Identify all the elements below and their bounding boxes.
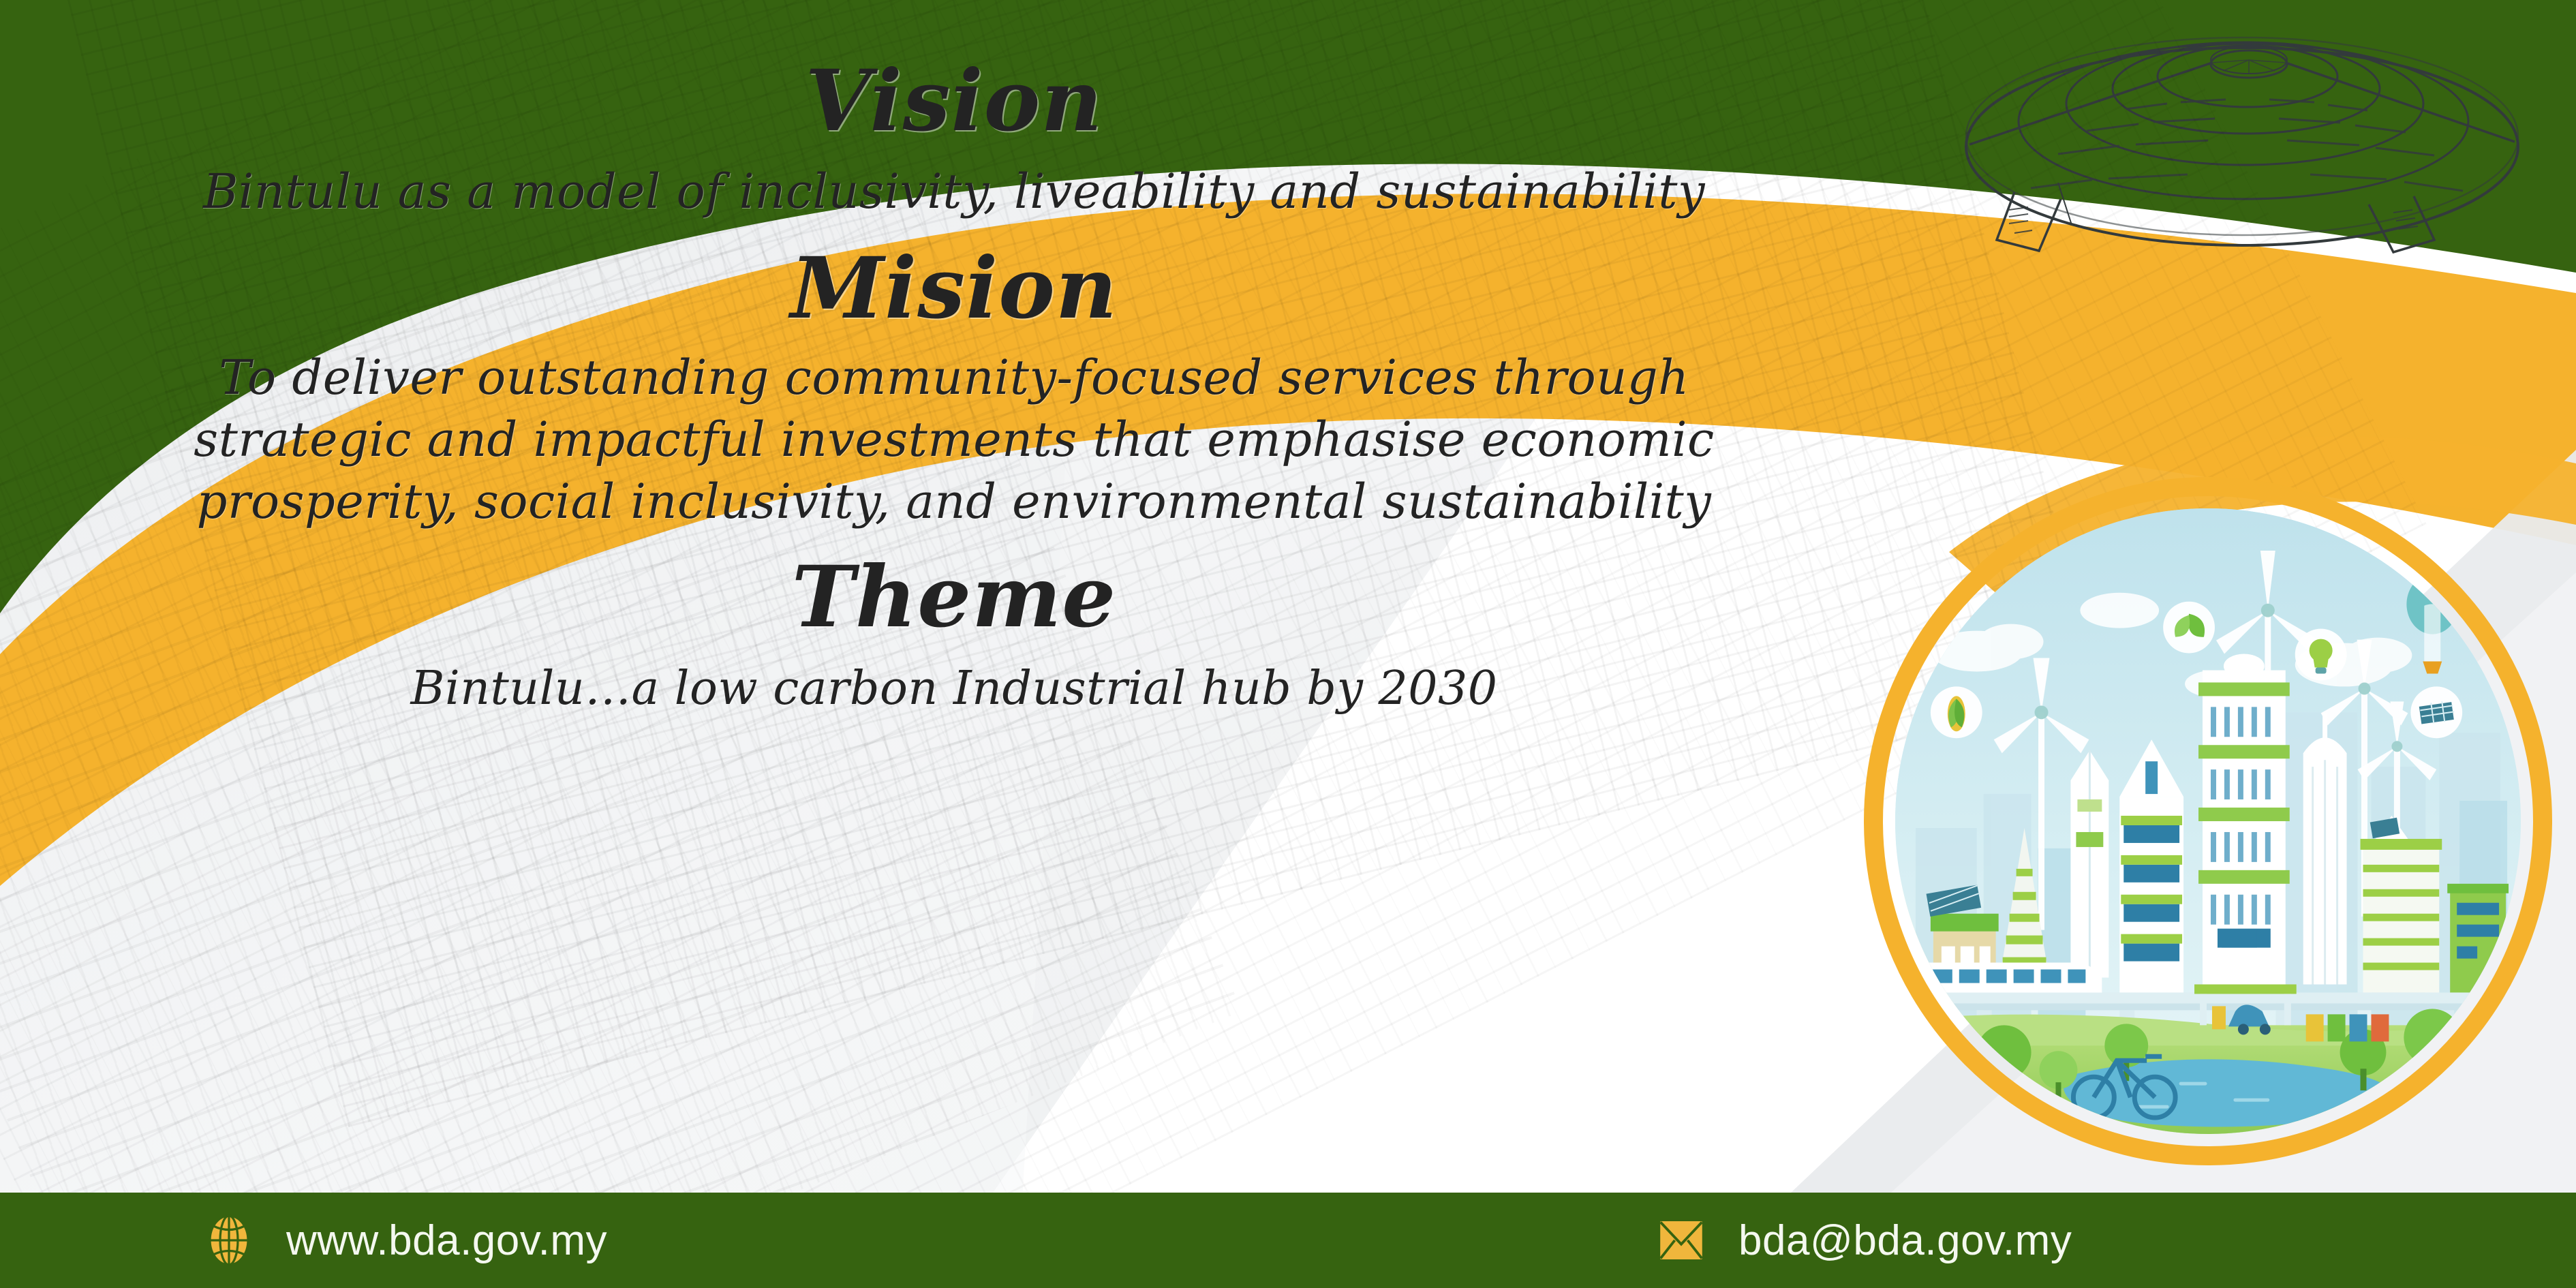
vision-heading: Vision xyxy=(0,57,1908,146)
footer-email[interactable]: bda@bda.gov.my xyxy=(1657,1214,2072,1267)
globe-icon-svg xyxy=(206,1214,251,1267)
theme-line-1: Bintulu…a low carbon Industrial hub by 2… xyxy=(0,659,1908,719)
eco-city-emblem xyxy=(1864,477,2552,1165)
mision-line-1: To deliver outstanding community-focused… xyxy=(0,347,1908,409)
envelope-icon-svg xyxy=(1657,1216,1706,1265)
content-block: Vision Bintulu as a model of inclusivity… xyxy=(0,57,1908,719)
envelope-icon xyxy=(1657,1214,1706,1267)
mision-line-3: prosperity, social inclusivity, and envi… xyxy=(0,471,1908,533)
vision-line-1: Bintulu as a model of inclusivity, livea… xyxy=(0,161,1908,223)
footer-bar: www.bda.gov.my bda@bda.gov.my xyxy=(0,1193,2576,1288)
mision-heading: Mision xyxy=(0,245,1908,333)
email-label[interactable]: bda@bda.gov.my xyxy=(1738,1216,2072,1265)
globe-icon xyxy=(204,1214,254,1267)
footer-website[interactable]: www.bda.gov.my xyxy=(204,1214,607,1267)
emblem-ring xyxy=(1864,477,2552,1165)
banner-root: Vision Bintulu as a model of inclusivity… xyxy=(0,0,2576,1288)
theme-heading: Theme xyxy=(0,553,1908,642)
website-label[interactable]: www.bda.gov.my xyxy=(286,1216,607,1265)
mision-line-2: strategic and impactful investments that… xyxy=(0,409,1908,471)
